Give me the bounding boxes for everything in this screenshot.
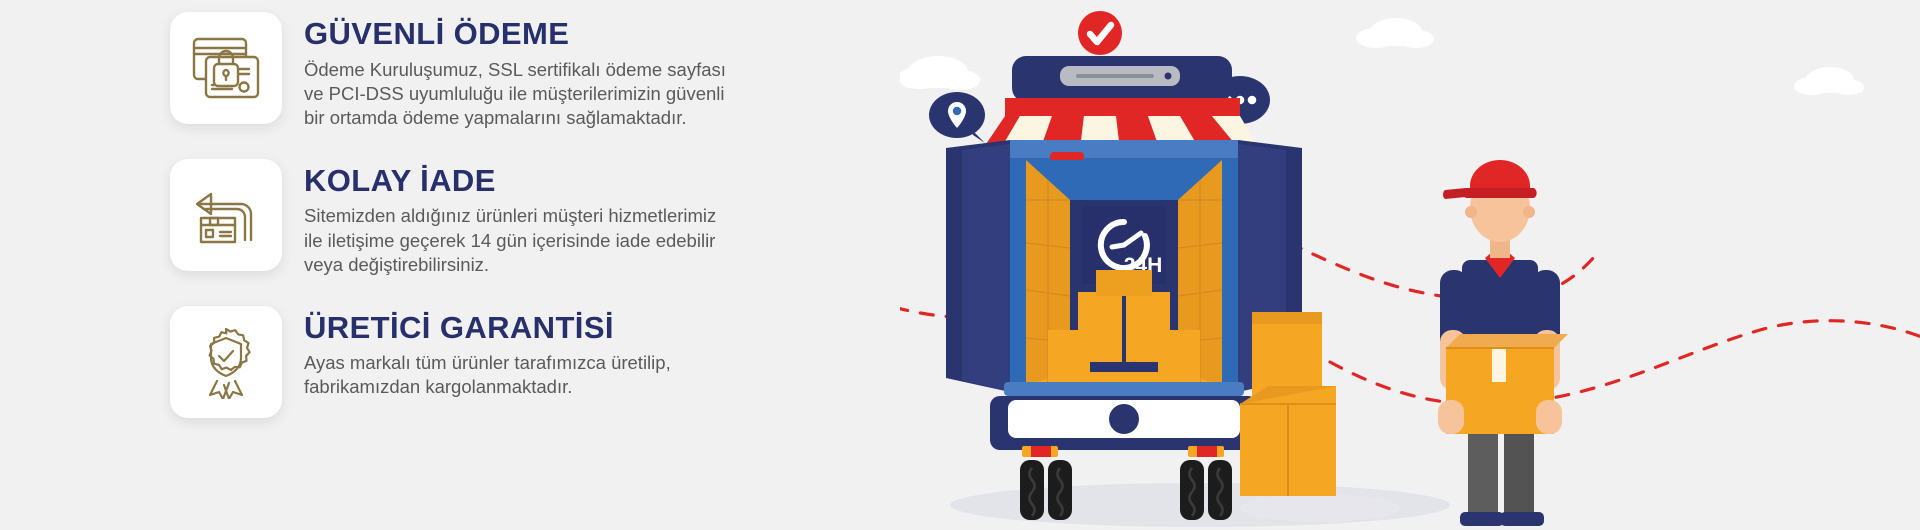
feature-text-block: ÜRETİCİ GARANTİSİ Ayas markalı tüm ürünl… bbox=[304, 306, 671, 400]
location-pin-bubble bbox=[929, 92, 985, 143]
feature-text-block: GÜVENLİ ÖDEME Ödeme Kuruluşumuz, SSL ser… bbox=[304, 12, 726, 131]
feature-item-manufacturer-guarantee[interactable]: ÜRETİCİ GARANTİSİ Ayas markalı tüm ürünl… bbox=[170, 306, 830, 418]
return-box-arrow-icon bbox=[189, 178, 263, 252]
feature-description: Ayas markalı tüm ürünler tarafımızca üre… bbox=[304, 351, 671, 400]
feature-text-block: KOLAY İADE Sitemizden aldığınız ürünleri… bbox=[304, 159, 716, 278]
ground-shadow-person bbox=[1240, 494, 1400, 522]
delivery-truck-illustration: 24H bbox=[900, 0, 1920, 530]
dashed-route-line-right bbox=[1330, 321, 1920, 405]
cloud-shape-top bbox=[1356, 18, 1434, 48]
feature-description: Ödeme Kuruluşumuz, SSL sertifikalı ödeme… bbox=[304, 58, 726, 131]
feature-item-easy-return[interactable]: KOLAY İADE Sitemizden aldığınız ürünleri… bbox=[170, 159, 830, 278]
guarantee-badge-icon-tile bbox=[170, 306, 282, 418]
cloud-shape-left bbox=[900, 56, 980, 90]
cargo-boxes-outside bbox=[1240, 312, 1336, 496]
feature-list: GÜVENLİ ÖDEME Ödeme Kuruluşumuz, SSL ser… bbox=[170, 12, 830, 418]
truck-hub bbox=[1109, 404, 1139, 434]
credit-card-lock-icon-tile bbox=[170, 12, 282, 124]
delivery-person bbox=[1438, 160, 1568, 526]
credit-card-lock-icon bbox=[189, 31, 263, 105]
check-circle-icon-main bbox=[1078, 11, 1122, 55]
features-banner: GÜVENLİ ÖDEME Ödeme Kuruluşumuz, SSL ser… bbox=[0, 0, 1920, 530]
feature-title: KOLAY İADE bbox=[304, 165, 716, 198]
feature-item-secure-payment[interactable]: GÜVENLİ ÖDEME Ödeme Kuruluşumuz, SSL ser… bbox=[170, 12, 830, 131]
guarantee-badge-icon bbox=[189, 325, 263, 399]
cloud-shape-right bbox=[1794, 67, 1864, 95]
feature-title: GÜVENLİ ÖDEME bbox=[304, 18, 726, 51]
feature-title: ÜRETİCİ GARANTİSİ bbox=[304, 312, 671, 345]
return-box-arrow-icon-tile bbox=[170, 159, 282, 271]
feature-description: Sitemizden aldığınız ürünleri müşteri hi… bbox=[304, 204, 716, 277]
